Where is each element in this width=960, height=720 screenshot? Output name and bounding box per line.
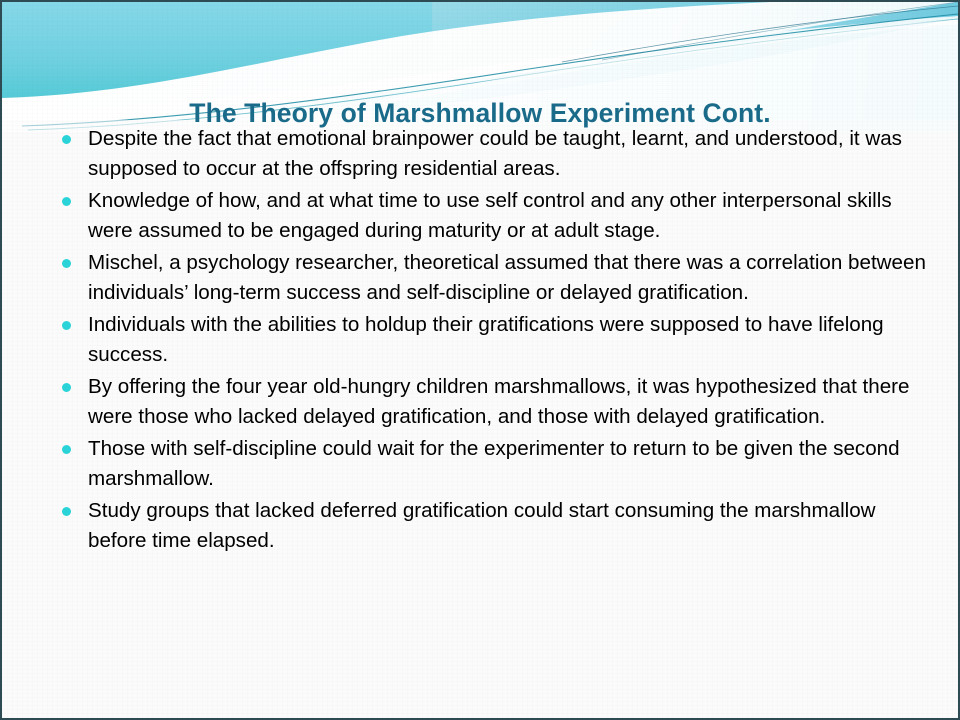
bullet-dot-icon — [62, 445, 71, 454]
bullet-dot-icon — [62, 507, 71, 516]
list-item: Despite the fact that emotional brainpow… — [46, 124, 926, 184]
list-item-text: By offering the four year old-hungry chi… — [88, 372, 926, 432]
bullet-dot-icon — [62, 383, 71, 392]
presentation-slide: The Theory of Marshmallow Experiment Con… — [0, 0, 960, 720]
list-item: Study groups that lacked deferred gratif… — [46, 496, 926, 556]
list-item-text: Knowledge of how, and at what time to us… — [88, 186, 926, 246]
bullet-dot-icon — [62, 259, 71, 268]
list-item: Those with self-discipline could wait fo… — [46, 434, 926, 494]
list-item-text: Mischel, a psychology researcher, theore… — [88, 248, 926, 308]
list-item-text: Those with self-discipline could wait fo… — [88, 434, 926, 494]
list-item: Individuals with the abilities to holdup… — [46, 310, 926, 370]
list-item-text: Individuals with the abilities to holdup… — [88, 310, 926, 370]
bullet-dot-icon — [62, 321, 71, 330]
bullet-dot-icon — [62, 135, 71, 144]
list-item-text: Study groups that lacked deferred gratif… — [88, 496, 926, 556]
list-item-text: Despite the fact that emotional brainpow… — [88, 124, 926, 184]
list-item: Mischel, a psychology researcher, theore… — [46, 248, 926, 308]
list-item: By offering the four year old-hungry chi… — [46, 372, 926, 432]
bullet-dot-icon — [62, 197, 71, 206]
bullet-list: Despite the fact that emotional brainpow… — [46, 124, 926, 558]
list-item: Knowledge of how, and at what time to us… — [46, 186, 926, 246]
